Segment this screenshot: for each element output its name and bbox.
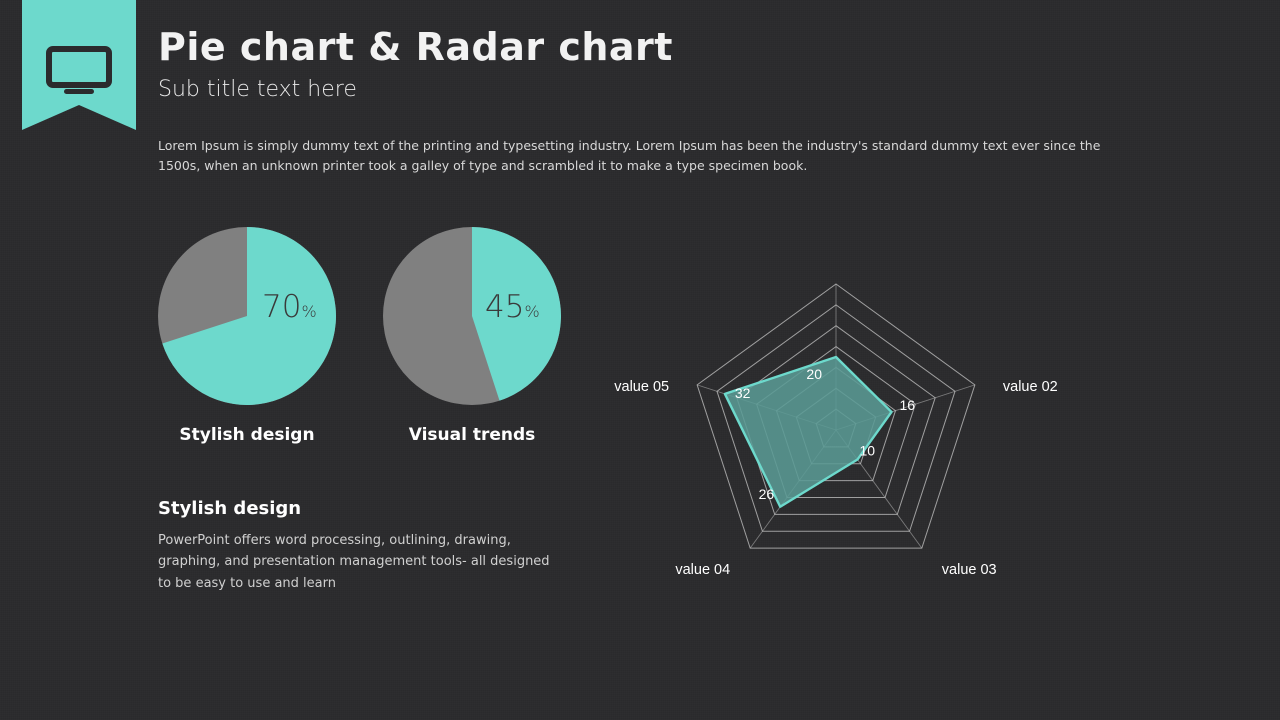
monitor-icon (46, 46, 112, 99)
radar-axis-label: value 05 (614, 379, 669, 395)
page-subtitle: Sub title text here (158, 77, 1158, 102)
radar-point-label: 20 (806, 366, 822, 382)
pie-chart-1-graphic: 70% (158, 227, 336, 405)
page-title: Pie chart & Radar chart (158, 28, 1158, 68)
feature-body: PowerPoint offers word processing, outli… (158, 530, 558, 594)
radar-point-label: 32 (735, 385, 751, 401)
feature-heading: Stylish design (158, 498, 558, 519)
radar-chart: value 01value 02value 03value 04value 05… (612, 262, 1092, 610)
header: Pie chart & Radar chart Sub title text h… (158, 28, 1158, 102)
radar-point-label: 10 (860, 443, 876, 459)
pie-chart-2-label: Visual trends (383, 425, 561, 445)
radar-axis-label: value 02 (1003, 379, 1058, 395)
pie-chart-visual-trends: 45% Visual trends (383, 227, 561, 405)
ribbon-banner (22, 0, 136, 125)
pie-chart-1-label: Stylish design (158, 425, 336, 445)
ribbon-body (22, 0, 136, 105)
radar-axis-label: value 03 (942, 562, 997, 578)
lead-paragraph: Lorem Ipsum is simply dummy text of the … (158, 136, 1133, 177)
pie-chart-2-graphic: 45% (383, 227, 561, 405)
radar-axis-label: value 01 (809, 262, 864, 266)
radar-axis-label: value 04 (675, 562, 730, 578)
pie-chart-stylish-design: 70% Stylish design (158, 227, 336, 405)
feature-text-block: Stylish design PowerPoint offers word pr… (158, 498, 558, 594)
radar-point-label: 26 (759, 486, 775, 502)
radar-point-label: 16 (900, 397, 916, 413)
ribbon-tail (22, 105, 136, 130)
